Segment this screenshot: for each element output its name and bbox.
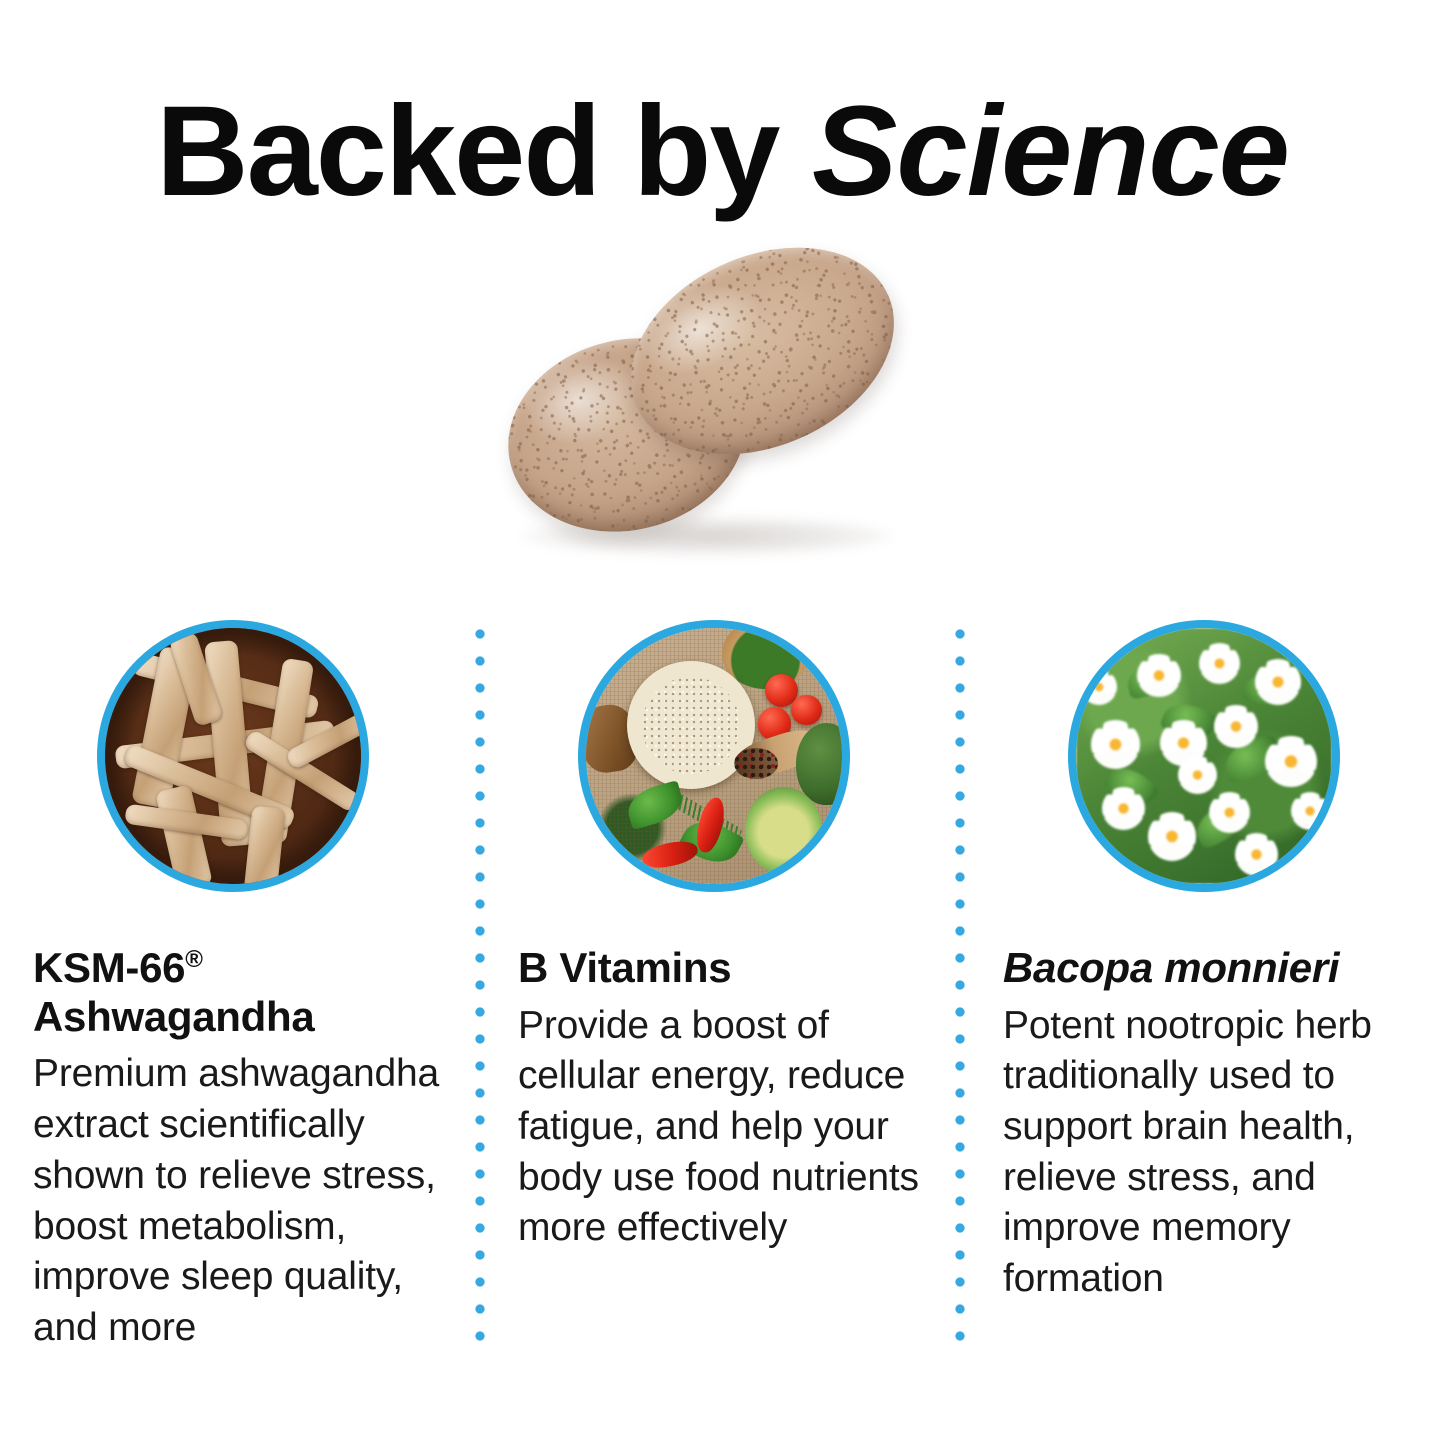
bacopa-flower	[1081, 669, 1117, 705]
column-1-heading: KSM-66® Ashwagandha	[33, 944, 453, 1041]
bacopa-flower	[1235, 833, 1279, 877]
bacopa-flower	[1148, 812, 1197, 861]
cherry-tomato	[791, 695, 822, 726]
column-b-vitamins: B Vitamins Provide a boost of cellular e…	[518, 620, 933, 1254]
column-2-body: Provide a boost of cellular energy, redu…	[518, 1001, 933, 1254]
bacopa-flower	[1209, 792, 1250, 833]
bacopa-flower	[1091, 720, 1140, 769]
column-1-heading-line-2: Ashwagandha	[33, 993, 314, 1040]
bacopa-photo-scene	[1076, 628, 1332, 884]
bacopa-flower	[1137, 654, 1181, 698]
bacopa-monnieri-flowers-photo	[1068, 620, 1340, 892]
food-photo-scene	[586, 628, 842, 884]
column-ksm66-ashwagandha: KSM-66® Ashwagandha Premium ashwagandha …	[33, 620, 453, 1354]
ashwagandha-roots-photo	[97, 620, 369, 892]
bacopa-flower	[1291, 792, 1329, 830]
infographic-page: Backed by Science	[0, 0, 1445, 1445]
column-3-body: Potent nootropic herb traditionally used…	[1003, 1001, 1403, 1305]
bacopa-flower	[1255, 659, 1301, 705]
bacopa-flower	[1199, 643, 1240, 684]
page-title-italic: Science	[812, 80, 1289, 223]
column-3-heading: Bacopa monnieri	[1003, 944, 1403, 993]
column-divider-right	[954, 628, 966, 1350]
halved-avocado	[745, 787, 822, 874]
bacopa-flower	[1214, 705, 1258, 749]
tablets-hero-image	[497, 248, 927, 578]
whole-foods-grains-photo	[578, 620, 850, 892]
peppercorns	[734, 748, 778, 779]
column-2-heading: B Vitamins	[518, 944, 933, 993]
whole-avocado	[796, 723, 850, 805]
bacopa-flower	[1265, 736, 1316, 787]
roots-photo-bowl	[105, 628, 361, 884]
root-stick	[155, 784, 213, 892]
registered-trademark-icon: ®	[185, 946, 202, 973]
column-divider-left	[474, 628, 486, 1350]
column-1-heading-line-1: KSM-66	[33, 944, 185, 991]
column-1-body: Premium ashwagandha extract scientifical…	[33, 1049, 453, 1353]
root-stick	[244, 806, 286, 892]
column-bacopa-monnieri: Bacopa monnieri Potent nootropic herb tr…	[1003, 620, 1403, 1305]
column-3-heading-line-1: Bacopa monnieri	[1003, 944, 1339, 991]
bacopa-flower	[1178, 756, 1216, 794]
bacopa-flower	[1102, 787, 1146, 831]
page-title: Backed by Science	[0, 88, 1445, 216]
page-title-regular: Backed by	[156, 80, 812, 223]
column-2-heading-line-1: B Vitamins	[518, 944, 731, 991]
